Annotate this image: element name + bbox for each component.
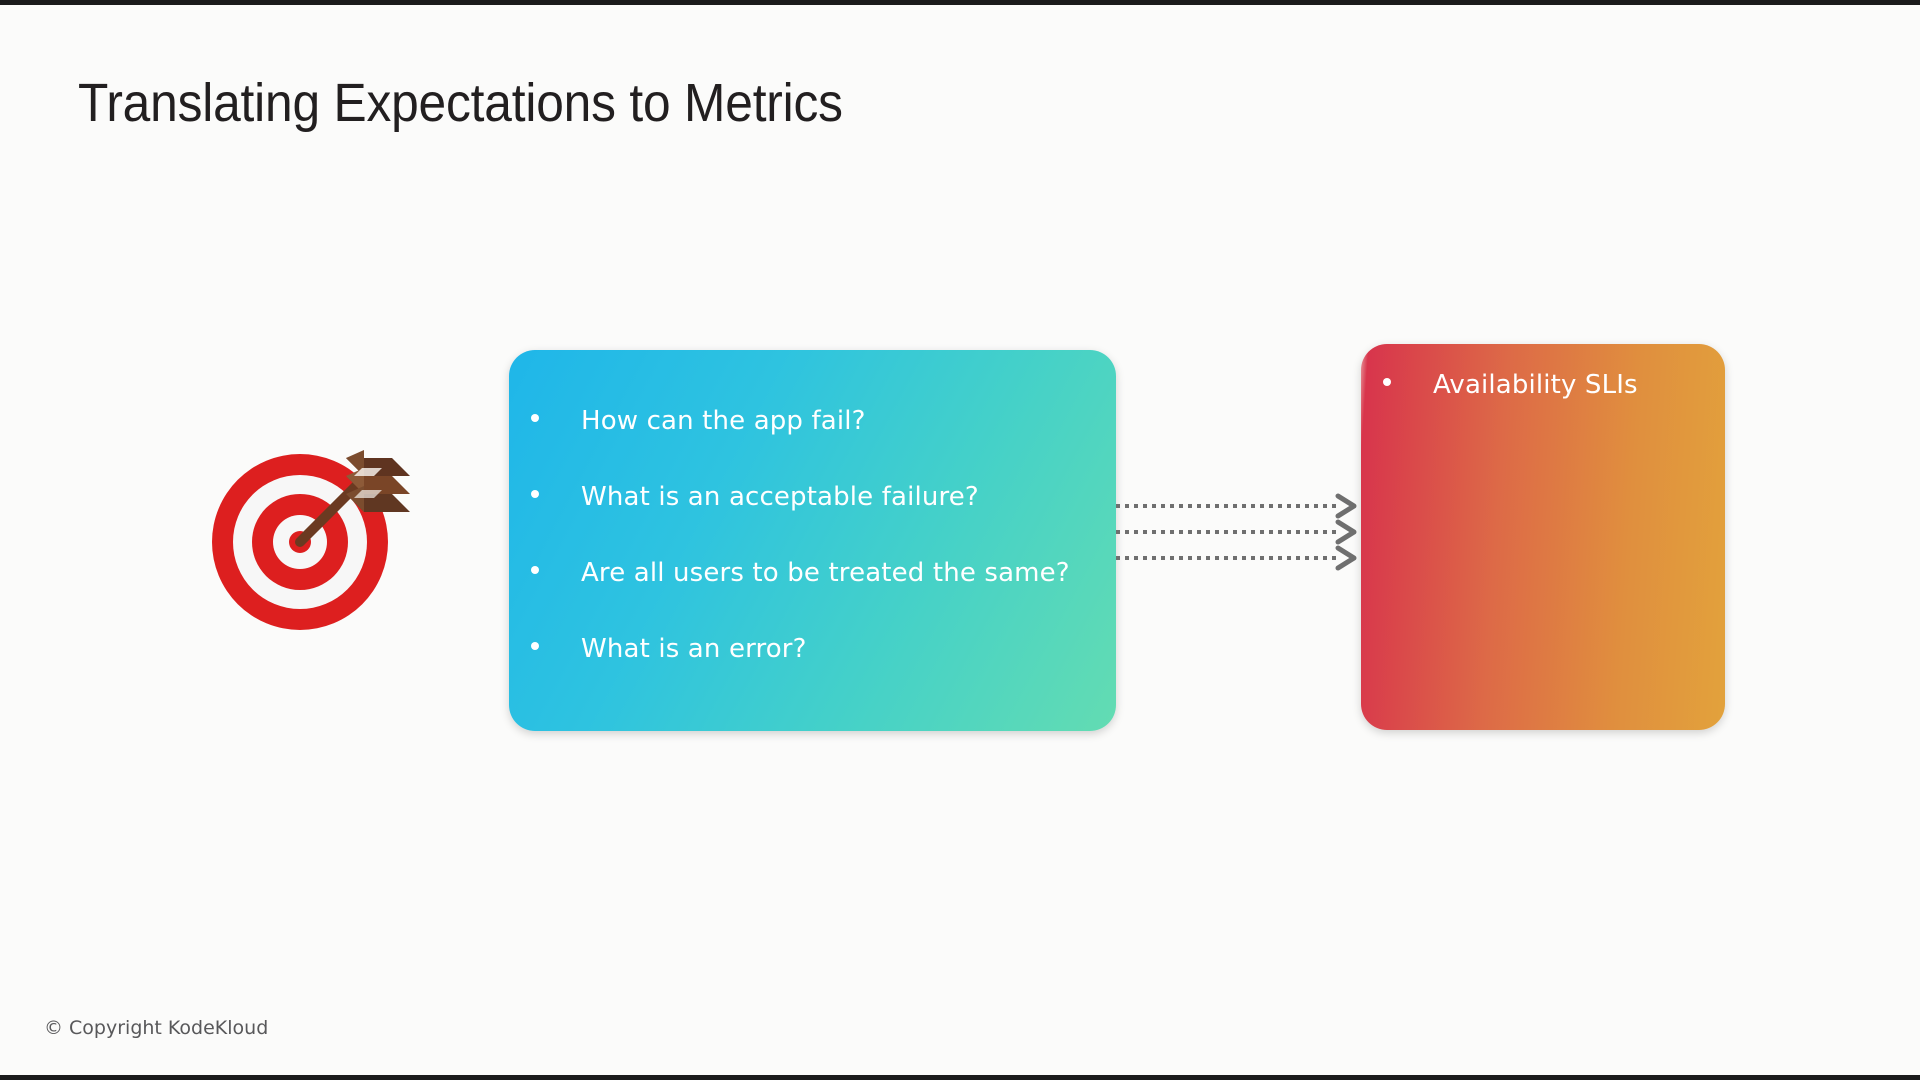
copyright-footer: © Copyright KodeKloud	[44, 1017, 268, 1039]
availability-slis-card: Availability SLIs	[1361, 344, 1725, 730]
bullet-dot-icon	[1383, 378, 1391, 386]
list-item: Are all users to be treated the same?	[531, 558, 1116, 588]
page-title: Translating Expectations to Metrics	[78, 72, 843, 134]
list-item: What is an error?	[531, 634, 1116, 664]
slis-bullet-list: Availability SLIs	[1361, 344, 1725, 400]
slide-bottom-edge	[0, 1075, 1920, 1080]
slide-top-edge	[0, 0, 1920, 5]
bullet-dot-icon	[531, 566, 539, 574]
list-item-label: What is an error?	[581, 634, 807, 664]
list-item-label: Are all users to be treated the same?	[581, 558, 1070, 588]
list-item-label: How can the app fail?	[581, 406, 866, 436]
bullet-dot-icon	[531, 414, 539, 422]
list-item-label: What is an acceptable failure?	[581, 482, 979, 512]
slide-canvas: Translating Expectations to Metrics	[0, 0, 1920, 1080]
questions-bullet-list: How can the app fail? What is an accepta…	[509, 350, 1116, 664]
questions-card: How can the app fail? What is an accepta…	[509, 350, 1116, 731]
chevron-right-icon	[0, 8, 68, 186]
dotted-arrow-connectors	[1116, 492, 1366, 572]
list-item-label: Availability SLIs	[1433, 370, 1638, 400]
target-with-arrow-icon	[196, 404, 436, 644]
bullet-dot-icon	[531, 490, 539, 498]
list-item: Availability SLIs	[1383, 370, 1725, 400]
list-item: How can the app fail?	[531, 406, 1116, 436]
bullet-dot-icon	[531, 642, 539, 650]
list-item: What is an acceptable failure?	[531, 482, 1116, 512]
